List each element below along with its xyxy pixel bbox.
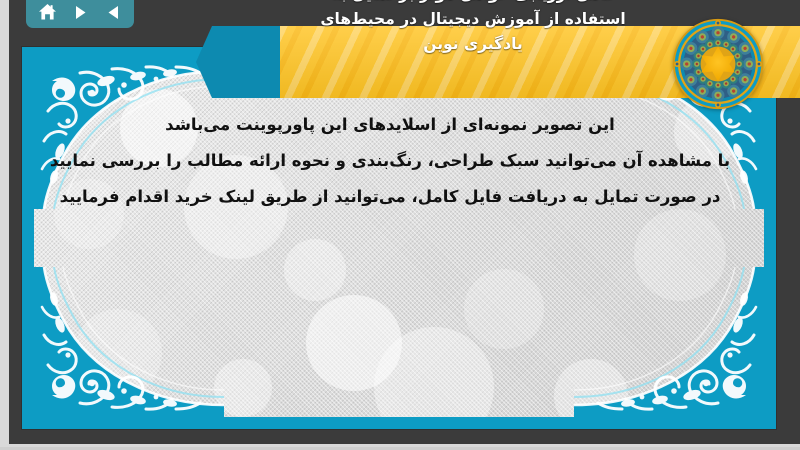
bokeh-circle xyxy=(634,209,726,301)
slide-stage: این تصویر نمونه‌ای از اسلایدهای این پاور… xyxy=(0,0,800,450)
body-line: در صورت تمایل به دریافت فایل کامل، می‌تو… xyxy=(34,179,746,215)
body-line: این تصویر نمونه‌ای از اسلایدهای این پاور… xyxy=(34,107,746,143)
next-slide-button[interactable] xyxy=(68,1,92,23)
bokeh-circle xyxy=(74,309,162,397)
triangle-left-icon xyxy=(105,4,122,21)
triangle-right-icon xyxy=(72,4,89,21)
bokeh-circle xyxy=(284,239,346,301)
banner-arrow-shape xyxy=(196,26,282,98)
slide-navigation-bar xyxy=(26,0,134,28)
bokeh-circle xyxy=(554,359,628,417)
home-icon xyxy=(38,3,57,21)
body-line: با مشاهده آن می‌توانید سبک طراحی، رنگ‌بن… xyxy=(34,143,746,179)
previous-slide-button[interactable] xyxy=(101,1,125,23)
persian-medallion-ornament-icon xyxy=(672,18,764,110)
home-button[interactable] xyxy=(35,1,59,23)
bokeh-circle xyxy=(464,269,544,349)
slide-frame: این تصویر نمونه‌ای از اسلایدهای این پاور… xyxy=(22,47,776,429)
slide-content-area: این تصویر نمونه‌ای از اسلایدهای این پاور… xyxy=(34,59,764,417)
slide-body-text: این تصویر نمونه‌ای از اسلایدهای این پاور… xyxy=(34,107,746,215)
left-gutter xyxy=(0,0,9,450)
bokeh-circle xyxy=(214,359,272,417)
